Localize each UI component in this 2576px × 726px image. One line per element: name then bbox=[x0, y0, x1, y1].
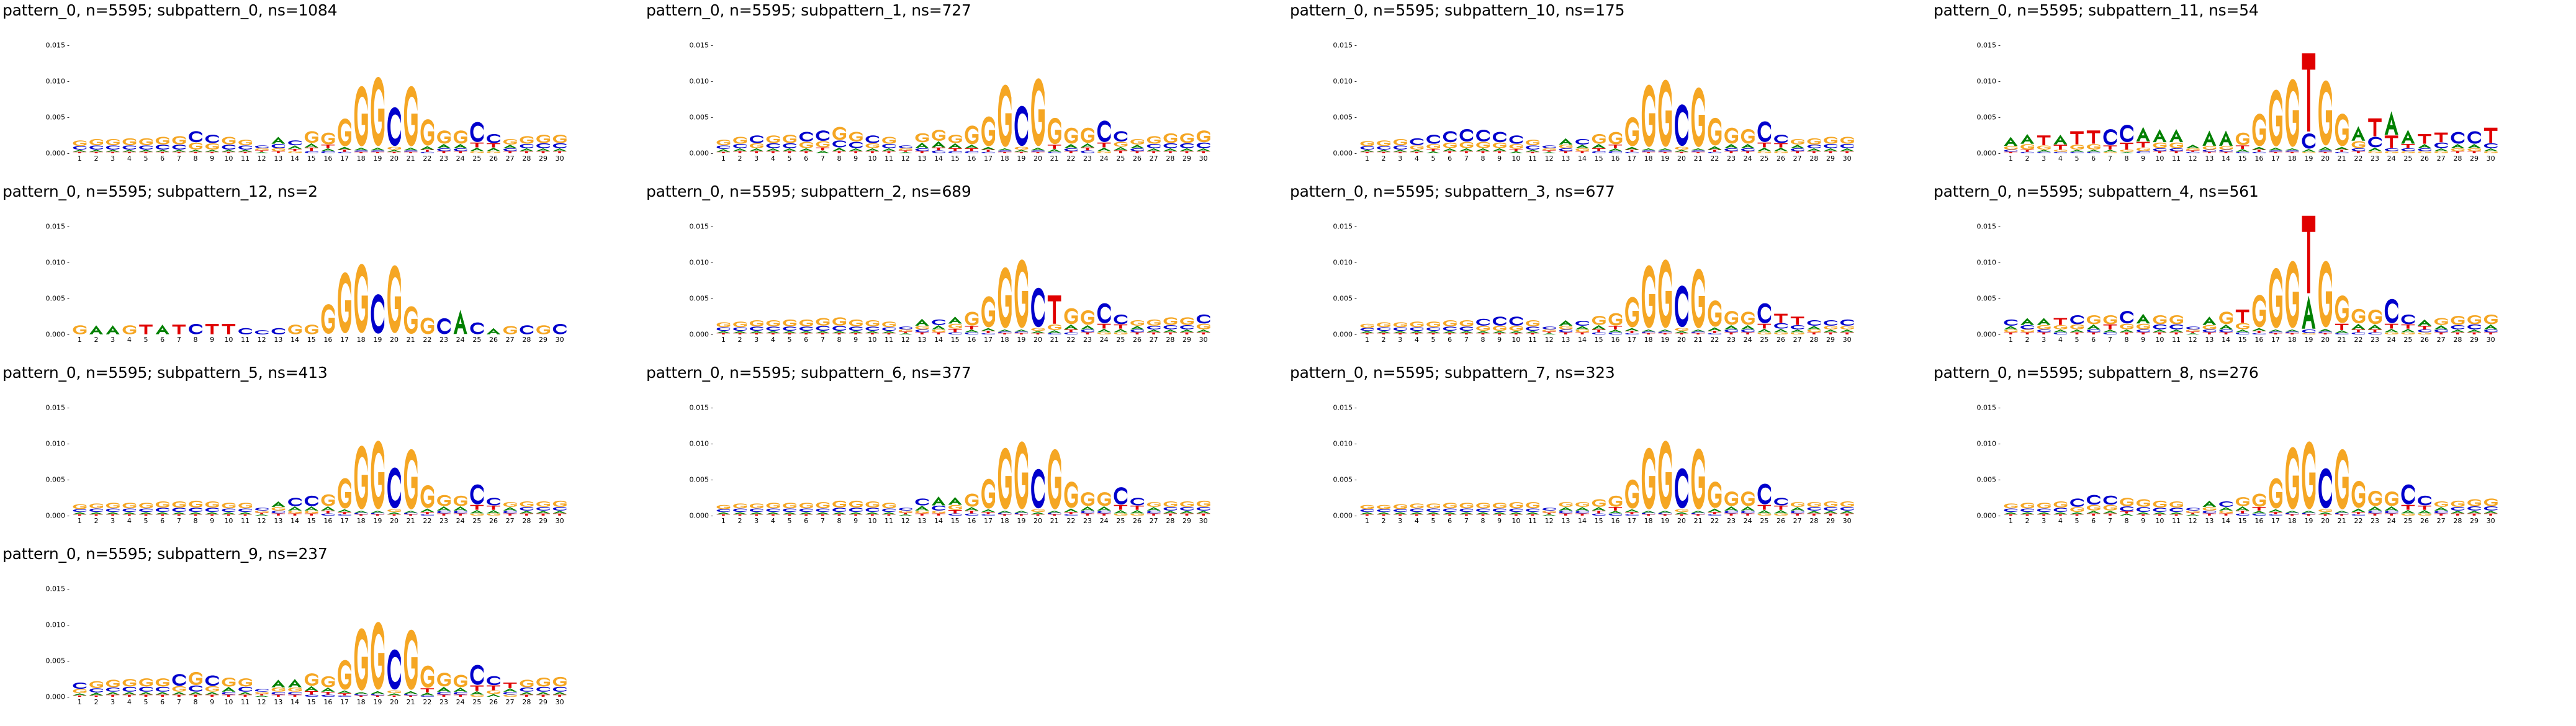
x-tick-label: 2 bbox=[94, 336, 99, 344]
logo-letter-A bbox=[1048, 330, 1061, 333]
x-tick-label: 4 bbox=[127, 698, 132, 706]
logo-letter-T bbox=[2385, 135, 2398, 148]
logo-letter-A bbox=[2120, 329, 2133, 332]
x-tick-label: 19 bbox=[373, 517, 382, 525]
logo-letter-G bbox=[2286, 447, 2299, 509]
logo-letter-C bbox=[255, 508, 269, 510]
logo-letter-C bbox=[2219, 329, 2233, 332]
logo-letter-C bbox=[783, 509, 796, 513]
logo-letter-A bbox=[205, 692, 219, 694]
logo-stack bbox=[1807, 320, 1821, 334]
logo-stack bbox=[1377, 322, 1390, 334]
x-tick-label: 30 bbox=[556, 517, 564, 525]
logo-letter-G bbox=[2020, 329, 2034, 332]
logo-stack bbox=[1048, 295, 1061, 334]
x-tick-label: 18 bbox=[1001, 336, 1009, 344]
logo-stack bbox=[1097, 492, 1111, 516]
logo-letter-G bbox=[1526, 502, 1539, 508]
logo-letter-G bbox=[1691, 87, 1705, 147]
logo-letter-T bbox=[832, 151, 846, 153]
x-tick-label: 6 bbox=[1448, 155, 1452, 163]
y-tick-dash: - bbox=[1998, 475, 2001, 483]
logo-letter-C bbox=[1659, 331, 1672, 333]
y-tick-label: 0.000- bbox=[1333, 150, 1357, 158]
logo-letter-G bbox=[123, 503, 137, 508]
logo-letter-G bbox=[981, 117, 995, 146]
panel-title: pattern_0, n=5595; subpattern_2, ns=689 bbox=[646, 182, 971, 200]
x-tick-label: 14 bbox=[934, 336, 943, 344]
x-tick-label: 24 bbox=[1100, 336, 1109, 344]
x-tick-label: 17 bbox=[984, 336, 993, 344]
logo-letter-G bbox=[832, 501, 846, 508]
logo-letter-T bbox=[139, 325, 153, 334]
logo-stack bbox=[536, 501, 550, 516]
logo-letter-C bbox=[816, 326, 830, 331]
logo-letter-G bbox=[1724, 491, 1738, 506]
x-tick-label: 16 bbox=[323, 336, 332, 344]
logo-letter-C bbox=[238, 687, 252, 692]
x-tick-label: 9 bbox=[1497, 155, 1502, 163]
logo-letter-G bbox=[1164, 133, 1178, 143]
logo-letter-C bbox=[1048, 333, 1061, 334]
x-tick-label: 7 bbox=[2108, 155, 2112, 163]
logo-letter-C bbox=[2434, 329, 2448, 332]
logo-letter-A bbox=[1642, 148, 1655, 150]
logo-letter-A bbox=[1180, 511, 1194, 513]
y-tick-text: 0.000 bbox=[46, 512, 66, 520]
y-tick-text: 0.015 bbox=[690, 41, 709, 49]
logo-letter-T bbox=[1808, 514, 1821, 516]
x-tick-label: 5 bbox=[144, 698, 148, 706]
logo-stack bbox=[404, 306, 418, 334]
logo-stack bbox=[89, 681, 103, 697]
logo-letter-T bbox=[1625, 150, 1639, 151]
y-tick-label: 0.015- bbox=[1333, 403, 1357, 411]
logo-letter-A bbox=[2286, 511, 2299, 513]
logo-stack bbox=[354, 628, 368, 696]
x-tick-label: 1 bbox=[721, 517, 726, 525]
logo-letter-A bbox=[454, 144, 467, 148]
logo-letter-C bbox=[2186, 152, 2200, 153]
y-tick-label: 0.015- bbox=[46, 403, 70, 411]
plot-area bbox=[71, 395, 568, 516]
logo-letter-C bbox=[2236, 152, 2249, 153]
x-tick-label: 7 bbox=[177, 336, 181, 344]
logo-stack bbox=[1741, 311, 1755, 334]
logo-stack bbox=[1542, 508, 1556, 516]
logo-letter-G bbox=[1510, 144, 1523, 149]
logo-letter-C bbox=[471, 485, 484, 504]
logo-letter-C bbox=[965, 151, 979, 153]
logo-letter-T bbox=[1758, 324, 1772, 329]
x-tick-label: 15 bbox=[307, 155, 316, 163]
logo-letter-T bbox=[1708, 512, 1722, 514]
logo-letter-A bbox=[305, 506, 318, 511]
logo-panel: pattern_0, n=5595; subpattern_6, ns=3770… bbox=[644, 362, 1287, 544]
logo-letter-T bbox=[1642, 333, 1655, 334]
logo-letter-A bbox=[2087, 511, 2101, 513]
logo-letter-T bbox=[1824, 333, 1837, 334]
logo-stack bbox=[2169, 129, 2183, 153]
logo-letter-T bbox=[1559, 333, 1573, 334]
logo-letter-A bbox=[2137, 127, 2150, 141]
logo-stack bbox=[470, 122, 484, 153]
logo-panel: pattern_0, n=5595; subpattern_10, ns=175… bbox=[1287, 0, 1931, 181]
logo-letter-T bbox=[2203, 514, 2217, 516]
logo-letter-T bbox=[1741, 333, 1755, 334]
sequence-logo bbox=[71, 576, 568, 697]
logo-letter-A bbox=[1791, 329, 1804, 332]
x-tick-label: 17 bbox=[984, 155, 993, 163]
logo-letter-T bbox=[503, 514, 517, 516]
logo-letter-T bbox=[2037, 135, 2051, 145]
y-tick-dash: - bbox=[67, 403, 70, 411]
logo-letter-G bbox=[2269, 478, 2282, 509]
logo-letter-A bbox=[1377, 512, 1390, 514]
logo-letter-A bbox=[1675, 331, 1688, 333]
logo-letter-C bbox=[948, 333, 962, 334]
x-tick-label: 24 bbox=[1744, 336, 1752, 344]
logo-letter-A bbox=[799, 148, 813, 151]
logo-letter-C bbox=[371, 513, 385, 514]
logo-letter-C bbox=[2352, 333, 2366, 334]
logo-stack bbox=[371, 441, 384, 516]
logo-letter-C bbox=[553, 143, 567, 148]
y-tick-label: 0.015- bbox=[1977, 41, 2001, 49]
logo-letter-T bbox=[354, 152, 368, 153]
x-tick-label: 17 bbox=[340, 517, 349, 525]
logo-stack bbox=[189, 672, 202, 697]
x-tick-label: 28 bbox=[2453, 155, 2462, 163]
logo-letter-C bbox=[1675, 468, 1688, 509]
logo-letter-C bbox=[2186, 326, 2200, 329]
x-tick-label: 15 bbox=[951, 155, 960, 163]
logo-stack bbox=[882, 321, 896, 334]
logo-letter-A bbox=[2252, 147, 2266, 150]
logo-stack bbox=[2434, 318, 2448, 334]
logo-letter-G bbox=[2269, 89, 2282, 146]
logo-stack bbox=[1708, 118, 1721, 153]
x-tick-label: 26 bbox=[1777, 155, 1785, 163]
logo-stack bbox=[1476, 130, 1490, 153]
sequence-logo bbox=[71, 395, 568, 516]
logo-letter-T bbox=[536, 151, 550, 153]
logo-stack bbox=[1163, 133, 1177, 153]
logo-stack bbox=[2186, 326, 2200, 334]
y-tick-text: 0.005 bbox=[46, 657, 66, 665]
logo-letter-T bbox=[1791, 151, 1804, 153]
x-tick-label: 2 bbox=[738, 155, 742, 163]
y-tick-text: 0.000 bbox=[1977, 512, 1997, 520]
logo-letter-A bbox=[899, 333, 912, 334]
logo-stack bbox=[799, 320, 813, 334]
y-tick-text: 0.005 bbox=[1333, 294, 1353, 302]
y-axis-labels: 0.015-0.010-0.005-0.000- bbox=[1287, 395, 1357, 516]
logo-letter-G bbox=[1542, 148, 1556, 150]
logo-stack bbox=[222, 137, 235, 153]
logo-stack bbox=[1031, 469, 1045, 516]
y-tick-label: 0.000- bbox=[46, 150, 70, 158]
logo-stack bbox=[189, 501, 202, 516]
logo-stack bbox=[1559, 502, 1572, 516]
x-tick-label: 22 bbox=[1066, 517, 1075, 525]
x-tick-label: 18 bbox=[357, 517, 366, 525]
logo-letter-G bbox=[1377, 322, 1390, 327]
x-tick-label: 17 bbox=[340, 155, 349, 163]
logo-letter-T bbox=[354, 696, 368, 697]
logo-stack bbox=[766, 503, 780, 516]
y-tick-dash: - bbox=[1998, 222, 2001, 230]
x-tick-label: 6 bbox=[2091, 517, 2096, 525]
logo-letter-A bbox=[1476, 148, 1490, 151]
logo-letter-A bbox=[288, 506, 302, 511]
logo-letter-C bbox=[1659, 513, 1672, 514]
x-tick-label: 13 bbox=[274, 698, 282, 706]
logo-letter-G bbox=[1097, 492, 1111, 506]
x-tick-label: 20 bbox=[390, 155, 399, 163]
x-tick-label: 25 bbox=[472, 336, 481, 344]
logo-stack bbox=[1559, 320, 1572, 334]
logo-letter-G bbox=[1460, 503, 1474, 508]
logo-letter-A bbox=[1147, 507, 1161, 511]
logo-stack bbox=[404, 86, 418, 153]
y-tick-text: 0.000 bbox=[46, 150, 66, 158]
x-tick-label: 24 bbox=[2387, 517, 2396, 525]
logo-letter-A bbox=[387, 693, 401, 695]
sequence-logo bbox=[71, 32, 568, 153]
logo-letter-T bbox=[2137, 333, 2150, 334]
logo-letter-C bbox=[2137, 507, 2150, 512]
logo-letter-C bbox=[1659, 150, 1672, 151]
logo-letter-A bbox=[2120, 152, 2133, 153]
logo-stack bbox=[503, 139, 517, 153]
x-tick-label: 14 bbox=[1578, 155, 1587, 163]
logo-letter-T bbox=[1741, 514, 1755, 516]
x-tick-label: 1 bbox=[2009, 155, 2013, 163]
logo-letter-T bbox=[437, 514, 451, 516]
logo-letter-C bbox=[1691, 150, 1705, 151]
logo-letter-A bbox=[2368, 325, 2382, 329]
logo-letter-T bbox=[998, 333, 1012, 334]
logo-letter-C bbox=[816, 509, 830, 513]
x-tick-label: 27 bbox=[1150, 155, 1158, 163]
logo-letter-T bbox=[1774, 143, 1788, 148]
logo-letter-G bbox=[371, 441, 385, 509]
x-tick-label: 2 bbox=[94, 517, 99, 525]
logo-letter-T bbox=[1147, 514, 1161, 516]
logo-letter-A bbox=[981, 147, 995, 150]
logo-letter-G bbox=[322, 495, 335, 506]
logo-letter-T bbox=[2286, 514, 2299, 516]
logo-letter-C bbox=[2020, 325, 2034, 329]
logo-letter-C bbox=[2070, 315, 2084, 324]
logo-letter-A bbox=[1097, 329, 1111, 333]
logo-letter-G bbox=[1476, 142, 1490, 148]
logo-letter-A bbox=[2401, 510, 2415, 514]
logo-letter-G bbox=[1180, 133, 1194, 143]
logo-stack bbox=[470, 485, 484, 516]
logo-letter-G bbox=[205, 686, 219, 692]
x-tick-label: 5 bbox=[788, 155, 792, 163]
logo-letter-T bbox=[799, 514, 813, 516]
x-tick-label: 5 bbox=[144, 336, 148, 344]
logo-letter-T bbox=[2368, 514, 2382, 516]
logo-letter-G bbox=[965, 311, 979, 325]
logo-letter-A bbox=[553, 511, 567, 513]
y-tick-dash: - bbox=[1354, 294, 1357, 302]
logo-stack bbox=[2252, 114, 2266, 153]
x-tick-label: 23 bbox=[2371, 155, 2379, 163]
logo-letter-C bbox=[2451, 507, 2465, 511]
logo-letter-G bbox=[882, 503, 896, 508]
logo-stack bbox=[139, 503, 153, 516]
logo-letter-C bbox=[305, 151, 318, 153]
y-tick-label: 0.005- bbox=[1977, 294, 2001, 302]
logo-letter-C bbox=[2269, 150, 2282, 151]
logo-letter-C bbox=[1130, 329, 1144, 332]
logo-letter-C bbox=[1791, 148, 1804, 151]
x-tick-label: 24 bbox=[456, 155, 465, 163]
logo-letter-A bbox=[1542, 152, 1556, 153]
logo-letter-G bbox=[2352, 309, 2366, 323]
logo-letter-G bbox=[1741, 129, 1755, 143]
x-tick-label: 14 bbox=[290, 698, 299, 706]
logo-letter-A bbox=[2103, 329, 2117, 332]
logo-stack bbox=[156, 137, 169, 153]
logo-stack bbox=[487, 134, 500, 153]
logo-stack bbox=[238, 678, 252, 697]
plot-area bbox=[1359, 395, 1855, 516]
logo-letter-T bbox=[437, 695, 451, 697]
logo-letter-T bbox=[222, 514, 236, 516]
logo-letter-C bbox=[2236, 333, 2249, 334]
logo-letter-C bbox=[106, 145, 120, 150]
logo-letter-A bbox=[1724, 506, 1738, 511]
logo-letter-A bbox=[965, 145, 978, 148]
y-tick-label: 0.015- bbox=[46, 585, 70, 593]
logo-letter-T bbox=[371, 152, 385, 153]
logo-stack bbox=[1840, 320, 1854, 334]
logo-letter-C bbox=[1426, 328, 1440, 331]
logo-stack bbox=[816, 502, 829, 516]
logo-letter-T bbox=[1164, 333, 1178, 334]
logo-letter-A bbox=[1791, 145, 1804, 148]
logo-letter-C bbox=[866, 135, 880, 143]
x-tick-label: 8 bbox=[837, 155, 842, 163]
logo-stack bbox=[2385, 299, 2398, 334]
logo-stack bbox=[1114, 487, 1127, 516]
panel-title: pattern_0, n=5595; subpattern_3, ns=677 bbox=[1290, 182, 1615, 200]
logo-letter-A bbox=[1542, 333, 1556, 334]
y-tick-label: 0.000- bbox=[690, 512, 713, 520]
logo-letter-G bbox=[156, 137, 169, 145]
logo-letter-A bbox=[1360, 512, 1374, 514]
logo-stack bbox=[1493, 316, 1506, 334]
logo-letter-G bbox=[1526, 320, 1539, 326]
logo-stack bbox=[783, 135, 796, 153]
plot-area bbox=[715, 32, 1212, 153]
logo-letter-A bbox=[849, 512, 863, 514]
logo-letter-C bbox=[2104, 129, 2117, 145]
logo-letter-T bbox=[2020, 333, 2034, 334]
logo-letter-T bbox=[2269, 152, 2282, 153]
logo-letter-G bbox=[1592, 500, 1606, 507]
y-tick-dash: - bbox=[67, 693, 70, 701]
logo-letter-A bbox=[122, 150, 136, 151]
x-tick-label: 26 bbox=[1777, 336, 1785, 344]
logo-letter-G bbox=[471, 151, 484, 153]
x-tick-label: 15 bbox=[1595, 517, 1603, 525]
x-tick-label: 7 bbox=[1464, 517, 1469, 525]
logo-stack bbox=[271, 679, 285, 697]
logo-stack bbox=[2252, 295, 2266, 334]
logo-stack bbox=[454, 310, 467, 334]
logo-letter-G bbox=[965, 125, 979, 144]
logo-letter-T bbox=[1724, 514, 1738, 516]
x-tick-label: 21 bbox=[2338, 336, 2346, 344]
logo-letter-C bbox=[1559, 148, 1573, 151]
logo-stack bbox=[1774, 135, 1788, 153]
logo-letter-T bbox=[288, 149, 302, 151]
logo-stack bbox=[371, 294, 385, 334]
logo-stack bbox=[2318, 261, 2332, 334]
logo-letter-C bbox=[421, 152, 435, 153]
logo-letter-G bbox=[866, 143, 880, 148]
logo-letter-A bbox=[2302, 295, 2315, 328]
logo-letter-A bbox=[487, 510, 500, 514]
logo-letter-A bbox=[2236, 506, 2249, 511]
logo-stack bbox=[2418, 320, 2431, 334]
logo-letter-G bbox=[1824, 326, 1837, 329]
logo-letter-G bbox=[387, 266, 401, 333]
logo-letter-G bbox=[404, 306, 418, 334]
logo-letter-C bbox=[2352, 148, 2366, 151]
logo-letter-G bbox=[338, 478, 351, 509]
logo-letter-T bbox=[882, 514, 896, 516]
logo-letter-C bbox=[1377, 146, 1390, 150]
y-tick-text: 0.000 bbox=[1333, 512, 1353, 520]
logo-letter-A bbox=[2302, 511, 2315, 513]
logo-letter-G bbox=[1840, 326, 1854, 329]
x-tick-label: 20 bbox=[1677, 517, 1686, 525]
logo-letter-T bbox=[387, 152, 401, 153]
logo-letter-T bbox=[2402, 505, 2415, 510]
x-tick-label: 16 bbox=[323, 517, 332, 525]
logo-letter-C bbox=[932, 150, 945, 153]
logo-stack bbox=[832, 501, 846, 516]
logo-letter-A bbox=[915, 319, 929, 326]
logo-letter-A bbox=[2202, 501, 2216, 507]
logo-letter-C bbox=[1476, 509, 1490, 513]
logo-letter-T bbox=[2418, 134, 2431, 144]
y-tick-text: 0.010 bbox=[46, 258, 66, 266]
x-tick-label: 3 bbox=[754, 336, 759, 344]
logo-panel: pattern_0, n=5595; subpattern_11, ns=540… bbox=[1931, 0, 2575, 181]
logo-letter-G bbox=[1031, 328, 1045, 331]
y-tick-text: 0.010 bbox=[1977, 258, 1997, 266]
logo-stack bbox=[783, 320, 796, 334]
logo-letter-A bbox=[1493, 512, 1506, 514]
logo-stack bbox=[122, 679, 136, 697]
logo-letter-C bbox=[2253, 514, 2266, 516]
logo-letter-G bbox=[2104, 152, 2117, 153]
logo-letter-G bbox=[1048, 118, 1061, 144]
logo-stack bbox=[1180, 133, 1194, 153]
logo-letter-A bbox=[255, 514, 269, 516]
logo-stack bbox=[1675, 468, 1688, 516]
logo-letter-A bbox=[1410, 331, 1423, 333]
logo-letter-C bbox=[437, 692, 451, 694]
